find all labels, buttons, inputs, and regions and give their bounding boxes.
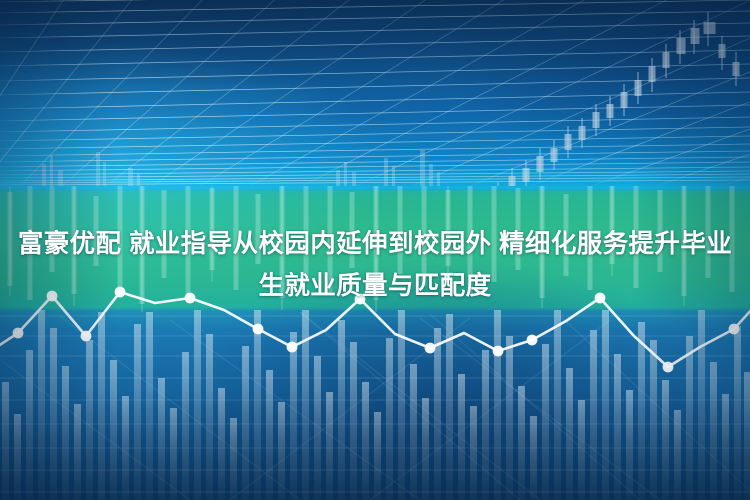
volume-bars bbox=[2, 304, 750, 500]
banner-stage: 富豪优配 就业指导从校园内延伸到校园外 精细化服务提升毕业生就业质量与匹配度 bbox=[0, 0, 750, 500]
banner-headline: 富豪优配 就业指导从校园内延伸到校园外 精细化服务提升毕业生就业质量与匹配度 bbox=[0, 223, 750, 307]
